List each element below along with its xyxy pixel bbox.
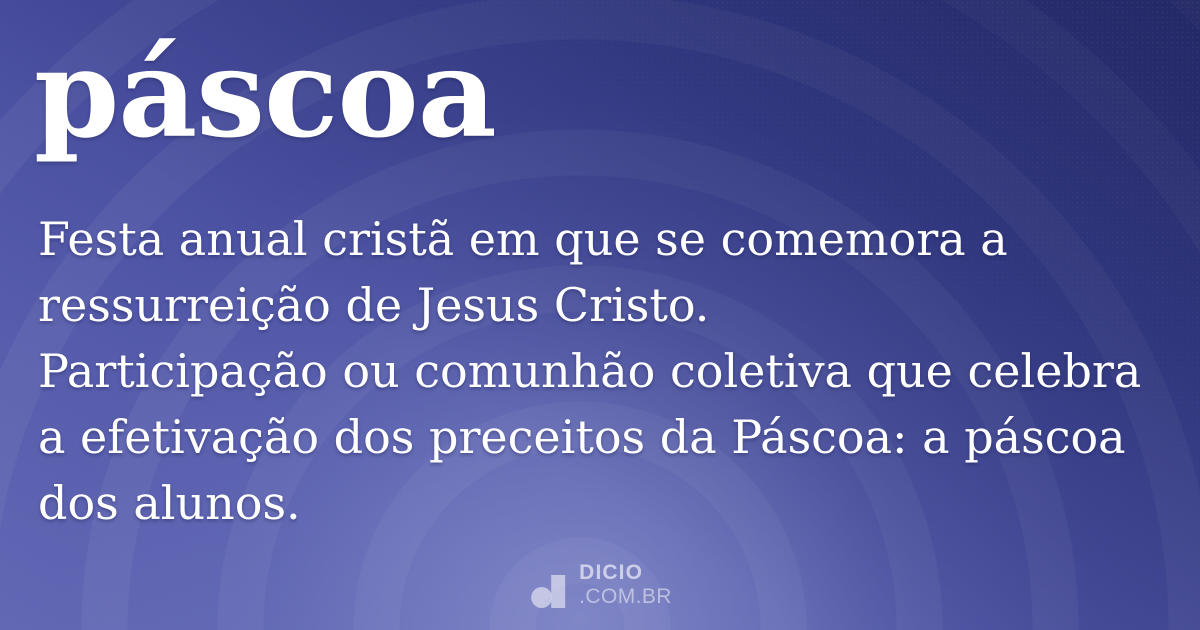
dicio-logo[interactable]: DICIO .COM.BR [528, 562, 672, 610]
dicio-brand-name: DICIO [579, 562, 672, 584]
definition-block: Festa anual cristã em que se comemora a … [38, 206, 1168, 536]
circle-dot-icon [531, 587, 552, 608]
dicio-brand-tld: .COM.BR [579, 585, 672, 609]
vertical-bar-icon [551, 575, 565, 608]
entry-word-title: páscoa [34, 22, 496, 166]
dicio-mark-icon [528, 570, 568, 610]
definition-sense-1: Festa anual cristã em que se comemora a … [38, 206, 1168, 338]
dictionary-card: páscoa Festa anual cristã em que se come… [0, 0, 1200, 630]
definition-sense-2: Participação ou comunhão coletiva que ce… [38, 338, 1168, 536]
dicio-wordmark: DICIO .COM.BR [579, 562, 672, 610]
card-content: páscoa Festa anual cristã em que se come… [0, 0, 1200, 630]
